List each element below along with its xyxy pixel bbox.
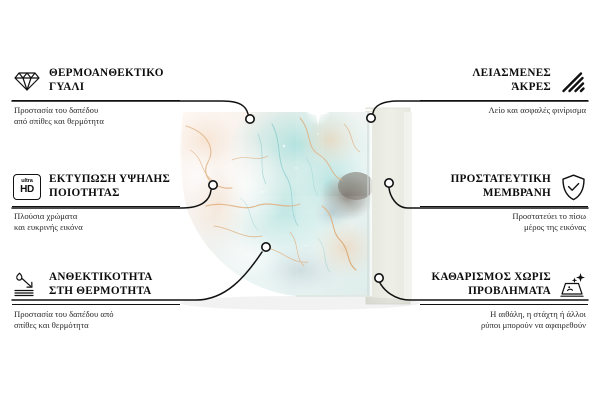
diamond-icon: [12, 66, 42, 96]
feature-divider: [12, 304, 180, 305]
feature-title: ΑΝΘΕΚΤΙΚΟΤΗΤΑ ΣΤΗ ΘΕΡΜΟΤΗΤΑ: [49, 271, 153, 298]
connector-dot-heat-durability: [262, 243, 270, 251]
feature-heat-durability: ΑΝΘΕΚΤΙΚΟΤΗΤΑ ΣΤΗ ΘΕΡΜΟΤΗΤΑ Προστασία το…: [12, 268, 200, 331]
connector-dot-easy-cleaning: [375, 274, 383, 282]
feature-heat-resistant-glass: ΘΕΡΜΟΑΝΘΕΚΤΙΚΟ ΓΥΑΛΙ Προστασία του δαπέδ…: [12, 64, 200, 127]
connector-dot-protective-membrane: [385, 179, 393, 187]
feature-header: ultra HD ΕΚΤΥΠΩΣΗ ΥΨΗΛΗΣ ΠΟΙΟΤΗΤΑΣ: [12, 170, 200, 204]
hatched-triangle-icon: [558, 66, 588, 96]
feature-protective-membrane: ΠΡΟΣΤΑΤΕΥΤΙΚΗ ΜΕΜΒΡΑΝΗ Προστατεύει το πί…: [400, 170, 588, 233]
feature-header: ΘΕΡΜΟΑΝΘΕΚΤΙΚΟ ΓΥΑΛΙ: [12, 64, 200, 98]
ultra-hd-badge-icon: ultra HD: [12, 172, 42, 202]
feature-subtitle: Προστατεύει το πίσω μέρος της εικόνας: [400, 211, 588, 233]
flame-deflect-icon: [12, 270, 42, 300]
feature-title: ΘΕΡΜΟΑΝΘΕΚΤΙΚΟ ΓΥΑΛΙ: [49, 67, 164, 94]
feature-divider: [12, 100, 180, 101]
feature-header: ΑΝΘΕΚΤΙΚΟΤΗΤΑ ΣΤΗ ΘΕΡΜΟΤΗΤΑ: [12, 268, 200, 302]
feature-title: ΕΚΤΥΠΩΣΗ ΥΨΗΛΗΣ ΠΟΙΟΤΗΤΑΣ: [49, 173, 170, 200]
feature-subtitle: Προστασία του δαπέδου από σπίθες και θερ…: [12, 105, 200, 127]
hd-label: HD: [20, 185, 34, 195]
connector-dot-heat-resistant-glass: [246, 115, 254, 123]
feature-divider: [420, 206, 588, 207]
feature-subtitle: Η αιθάλη, η στάχτη ή άλλοι ρύποι μπορούν…: [400, 309, 588, 331]
feature-polished-edges: ΛΕΙΑΣΜΕΝΕΣ ΆΚΡΕΣ Λείο και ασφαλές φινίρι…: [400, 64, 588, 116]
feature-divider: [420, 304, 588, 305]
feature-title: ΚΑΘΑΡΙΣΜΟΣ ΧΩΡΙΣ ΠΡΟΒΛΗΜΑΤΑ: [431, 271, 551, 298]
feature-title: ΠΡΟΣΤΑΤΕΥΤΙΚΗ ΜΕΜΒΡΑΝΗ: [451, 173, 551, 200]
connector-dot-high-quality-print: [209, 181, 217, 189]
feature-subtitle: Πλούσια χρώματα και ευκρινής εικόνα: [12, 211, 200, 233]
feature-title: ΛΕΙΑΣΜΕΝΕΣ ΆΚΡΕΣ: [472, 67, 551, 94]
product-feature-infographic: ΘΕΡΜΟΑΝΘΕΚΤΙΚΟ ΓΥΑΛΙ Προστασία του δαπέδ…: [0, 0, 600, 400]
feature-high-quality-print: ultra HD ΕΚΤΥΠΩΣΗ ΥΨΗΛΗΣ ΠΟΙΟΤΗΤΑΣ Πλούσ…: [12, 170, 200, 233]
feature-divider: [420, 100, 588, 101]
feature-subtitle: Προστασία του δαπέδου από σπίθες και θερ…: [12, 309, 200, 331]
feature-subtitle: Λείο και ασφαλές φινίρισμα: [400, 105, 588, 116]
feature-header: ΛΕΙΑΣΜΕΝΕΣ ΆΚΡΕΣ: [400, 64, 588, 98]
connector-dot-polished-edges: [367, 114, 375, 122]
sponge-sparkle-icon: [558, 270, 588, 300]
feature-header: ΠΡΟΣΤΑΤΕΥΤΙΚΗ ΜΕΜΒΡΑΝΗ: [400, 170, 588, 204]
feature-divider: [12, 206, 180, 207]
feature-easy-cleaning: ΚΑΘΑΡΙΣΜΟΣ ΧΩΡΙΣ ΠΡΟΒΛΗΜΑΤΑ Η αιθάλη, η …: [400, 268, 588, 331]
shield-check-icon: [558, 172, 588, 202]
feature-header: ΚΑΘΑΡΙΣΜΟΣ ΧΩΡΙΣ ΠΡΟΒΛΗΜΑΤΑ: [400, 268, 588, 302]
